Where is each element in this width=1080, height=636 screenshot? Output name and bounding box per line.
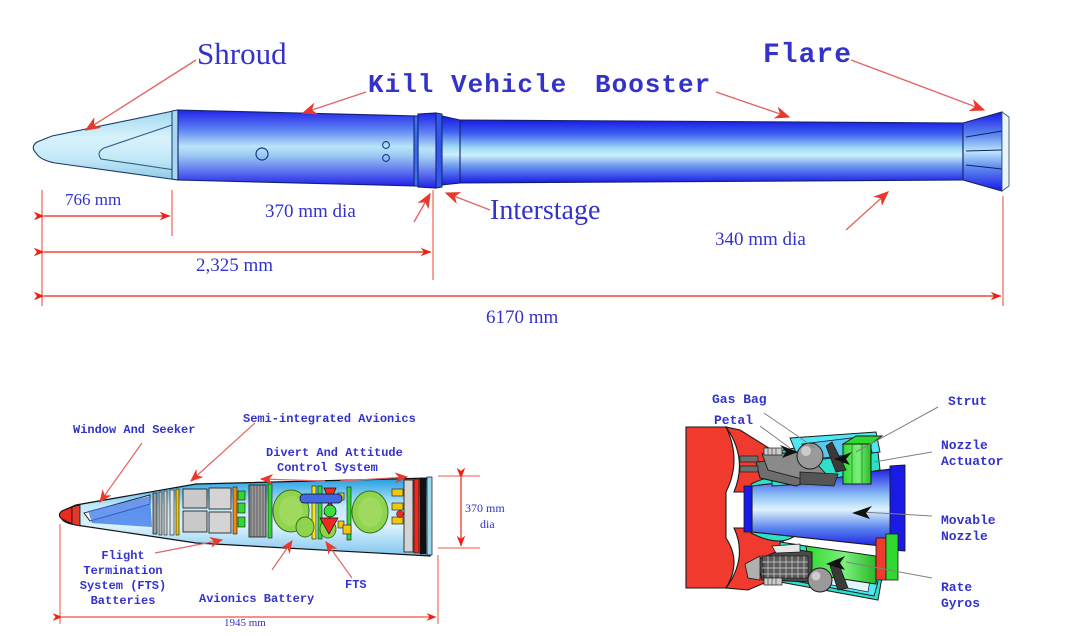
shroud-body bbox=[33, 110, 178, 180]
lower-actuator-flange bbox=[886, 534, 898, 580]
connector-2 bbox=[392, 503, 403, 510]
tank-2-highlight bbox=[358, 497, 382, 527]
gas-bag-highlight-lower bbox=[812, 572, 821, 581]
callout-kill-vehicle: Kill Vehicle bbox=[368, 70, 567, 100]
linkage-arm-b bbox=[740, 466, 758, 472]
callout-rate-gyros-line1: Rate bbox=[941, 580, 972, 595]
gas-bag-highlight-upper bbox=[801, 446, 811, 456]
gas-bag-sphere-upper bbox=[797, 443, 823, 469]
aft-plate-red bbox=[414, 479, 419, 553]
aft-plate-1 bbox=[404, 480, 413, 552]
dim-label-2325: 2,325 mm bbox=[196, 255, 273, 277]
leader-gas-bag bbox=[764, 413, 815, 448]
linkage-arm-c bbox=[800, 472, 838, 486]
aft-plate-light bbox=[427, 477, 432, 555]
callout-fts-batteries-line4: Batteries bbox=[63, 594, 183, 608]
green-block-a bbox=[238, 491, 245, 500]
callout-rate-gyros-line2: Gyros bbox=[941, 596, 980, 611]
callout-fts: FTS bbox=[345, 578, 367, 592]
gas-bag-sphere-lower bbox=[808, 568, 832, 592]
callout-fts-batteries-line2: Termination bbox=[63, 564, 183, 578]
dim-label-1945: 1945 mm bbox=[224, 617, 266, 629]
callout-avionics-battery: Avionics Battery bbox=[199, 592, 314, 606]
flare-body bbox=[963, 112, 1002, 191]
nozzle-actuator-block bbox=[843, 444, 871, 484]
callout-fts-batteries-line3: System (FTS) bbox=[63, 579, 183, 593]
leader-dacs bbox=[261, 479, 325, 481]
callout-nozzle-actuator-line1: Nozzle bbox=[941, 438, 988, 453]
nozzle-cutaway-view bbox=[686, 407, 938, 600]
linkage-arm-a bbox=[740, 456, 758, 462]
callout-interstage: Interstage bbox=[490, 195, 600, 227]
callout-semi-integrated-avionics: Semi-integrated Avionics bbox=[243, 412, 416, 426]
dim-label-766: 766 mm bbox=[65, 190, 121, 210]
fts-battery-box-3 bbox=[209, 488, 231, 509]
leader-window-seeker bbox=[100, 443, 142, 502]
lower-actuator-seal bbox=[876, 538, 886, 580]
flare-rim bbox=[1002, 112, 1009, 191]
optics-ring-yellow bbox=[176, 489, 179, 535]
dim-label-booster-dia: 340 mm dia bbox=[715, 229, 806, 251]
aft-plate-dark bbox=[420, 478, 426, 554]
optics-bulkhead-3 bbox=[164, 491, 167, 535]
callout-shroud: Shroud bbox=[197, 36, 287, 72]
fts-battery-box-4 bbox=[209, 512, 231, 533]
leader-strut bbox=[856, 407, 938, 452]
leader-semi-avionics bbox=[191, 423, 255, 481]
dim-label-kv-cutaway-dia-l1: 370 mm bbox=[465, 501, 505, 516]
callout-dacs-line2: Control System bbox=[277, 461, 378, 475]
callout-petal: Petal bbox=[714, 413, 753, 428]
yellow-block-aft bbox=[343, 525, 351, 534]
throat-liner bbox=[744, 486, 752, 532]
optics-bulkhead-1 bbox=[153, 493, 157, 534]
leader-booster-dia bbox=[846, 192, 888, 230]
optics-bulkhead-2 bbox=[159, 492, 162, 535]
avionics-battery-unit bbox=[296, 517, 314, 537]
interstage-ring-a bbox=[414, 116, 418, 186]
callout-movable-nozzle-line1: Movable bbox=[941, 513, 996, 528]
semi-integrated-avionics-ring bbox=[249, 485, 266, 537]
callout-window-and-seeker: Window And Seeker bbox=[73, 423, 195, 437]
orange-divider bbox=[233, 487, 237, 534]
optics-bulkhead-4 bbox=[170, 490, 174, 535]
avionics-rail bbox=[300, 494, 342, 503]
interstage-ring-c bbox=[442, 116, 460, 185]
callout-nozzle-actuator-line2: Actuator bbox=[941, 454, 1003, 469]
leader-interstage-2 bbox=[414, 194, 430, 222]
leader-interstage bbox=[446, 193, 490, 210]
fts-battery-box-1 bbox=[183, 489, 207, 508]
callout-gas-bag: Gas Bag bbox=[712, 392, 767, 407]
shroud-joint-ring bbox=[172, 110, 178, 180]
leader-flare bbox=[851, 60, 984, 110]
connector-port bbox=[397, 511, 404, 518]
seeker-window-ring bbox=[72, 505, 80, 526]
motor-case bbox=[686, 427, 734, 588]
kill-vehicle-body bbox=[178, 110, 418, 186]
green-bulkhead-1 bbox=[268, 484, 272, 538]
connector-1 bbox=[392, 489, 403, 496]
callout-flare: Flare bbox=[763, 40, 852, 71]
interstage-ring-b bbox=[436, 113, 442, 188]
fts-battery-box-2 bbox=[183, 511, 207, 532]
callout-dacs-line1: Divert And Attitude bbox=[266, 446, 403, 460]
dim-label-kv-dia: 370 mm dia bbox=[265, 201, 356, 223]
diagram-canvas: Shroud Kill Vehicle Booster Flare Inters… bbox=[0, 0, 1080, 636]
dim-label-kv-cutaway-dia-l2: dia bbox=[480, 517, 495, 532]
leader-booster bbox=[716, 92, 789, 117]
callout-booster: Booster bbox=[595, 70, 711, 100]
connector-3 bbox=[392, 517, 403, 524]
dim-label-6170: 6170 mm bbox=[486, 307, 558, 329]
callout-movable-nozzle-line2: Nozzle bbox=[941, 529, 988, 544]
leader-nozzle-actuator bbox=[874, 452, 932, 462]
green-block-c bbox=[238, 517, 245, 527]
booster-body bbox=[460, 120, 963, 183]
callout-strut: Strut bbox=[948, 394, 987, 409]
callout-fts-batteries-line1: Flight bbox=[63, 549, 183, 563]
leader-kill-vehicle bbox=[303, 92, 366, 113]
green-block-b bbox=[238, 503, 245, 513]
interstage-section bbox=[418, 113, 436, 188]
